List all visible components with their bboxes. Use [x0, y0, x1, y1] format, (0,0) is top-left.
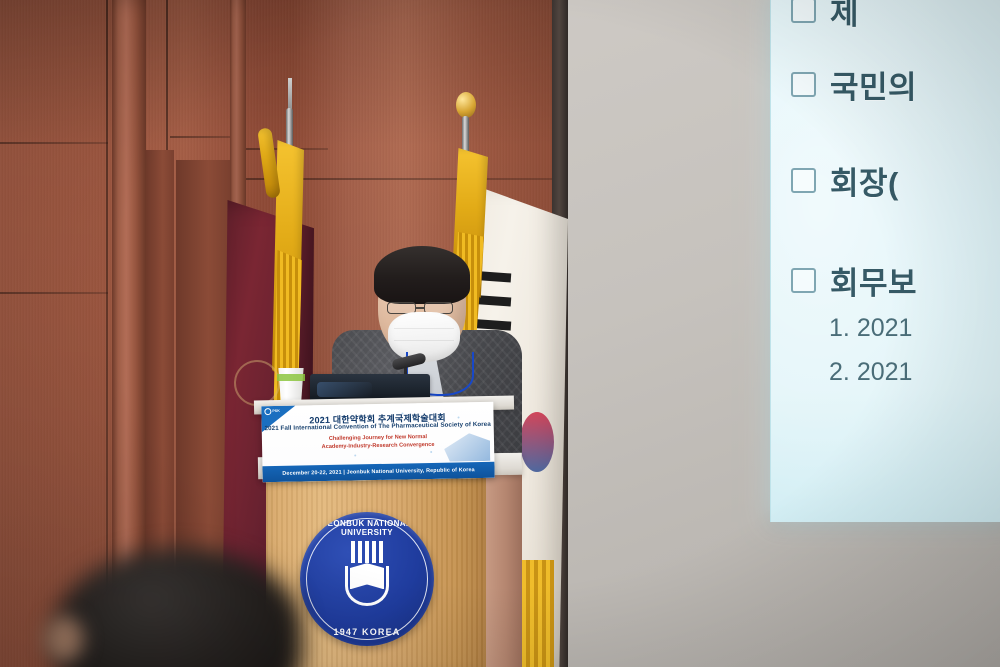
- checkbox-icon: [791, 168, 816, 193]
- mask-fold: [394, 340, 455, 341]
- logo-text: PSK: [272, 409, 279, 413]
- emblem-bottom-text: 1947 KOREA: [300, 627, 434, 637]
- emblem-torch-icon: [351, 541, 383, 563]
- wall-seam: [170, 136, 234, 138]
- checkbox-icon: [791, 72, 816, 97]
- podium-side: [486, 466, 522, 667]
- foreground-audience-ear: [44, 616, 84, 662]
- emblem-top-text: JEONBUK NATIONAL UNIVERSITY: [300, 519, 434, 537]
- conference-banner: PSK 2021 대한약학회 추계국제학술대회 2021 Fall Intern…: [261, 402, 494, 482]
- slide-item-label: 제: [830, 0, 859, 33]
- slide-item-label: 국민의: [830, 62, 917, 107]
- flag-taeguk: [520, 412, 554, 472]
- slide-content: 제 국민의 회장( 회무보 1. 2021 2. 2021: [771, 0, 1000, 522]
- banner-dot: [354, 454, 356, 456]
- slide-number: 1.: [829, 314, 850, 342]
- flag-finial: [456, 92, 476, 118]
- paper-cup-band: [277, 374, 305, 381]
- slide-item: 제: [791, 0, 859, 33]
- slide-numbered-item: 2. 2021: [829, 358, 912, 387]
- slide-item-label: 회무보: [830, 258, 917, 303]
- checkbox-icon: [791, 268, 816, 293]
- speaker-hair: [374, 246, 470, 304]
- slide-item-label: 회장(: [830, 158, 899, 203]
- flag-crest: [234, 360, 280, 406]
- mask-fold: [394, 328, 455, 329]
- monitor-glare: [317, 382, 372, 397]
- slide-number: 2.: [829, 358, 850, 386]
- slide-item: 회장(: [791, 158, 899, 203]
- banner-dot: [430, 451, 432, 453]
- wall-seam: [0, 142, 108, 144]
- university-emblem: JEONBUK NATIONAL UNIVERSITY 1947 KOREA: [300, 512, 434, 646]
- slide-number-text: 2021: [857, 358, 913, 386]
- slide-numbered-item: 1. 2021: [829, 314, 912, 343]
- slide-item: 국민의: [791, 62, 917, 107]
- photo-scene: 제 국민의 회장( 회무보 1. 2021 2. 2021: [0, 0, 1000, 667]
- projection-screen: 제 국민의 회장( 회무보 1. 2021 2. 2021: [770, 0, 1000, 522]
- wall-seam: [0, 292, 108, 294]
- banner-date-venue: December 20-22, 2021 | Jeonbuk National …: [282, 467, 475, 477]
- glasses-bridge: [416, 307, 424, 309]
- slide-number-text: 2021: [857, 314, 913, 342]
- slide-item: 회무보: [791, 258, 917, 303]
- checkbox-icon: [791, 0, 816, 23]
